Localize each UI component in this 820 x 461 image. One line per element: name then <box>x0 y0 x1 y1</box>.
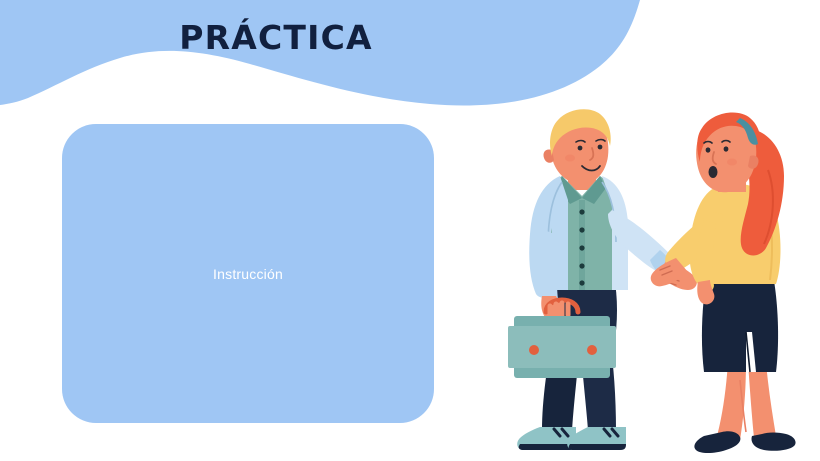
page-title: PRÁCTICA <box>0 18 552 57</box>
instruction-panel[interactable]: Instrucción <box>62 124 434 423</box>
instruction-panel-label: Instrucción <box>213 266 283 282</box>
slide-canvas: PRÁCTICA Instrucción <box>0 0 820 461</box>
business-handshake-illustration <box>500 100 820 461</box>
